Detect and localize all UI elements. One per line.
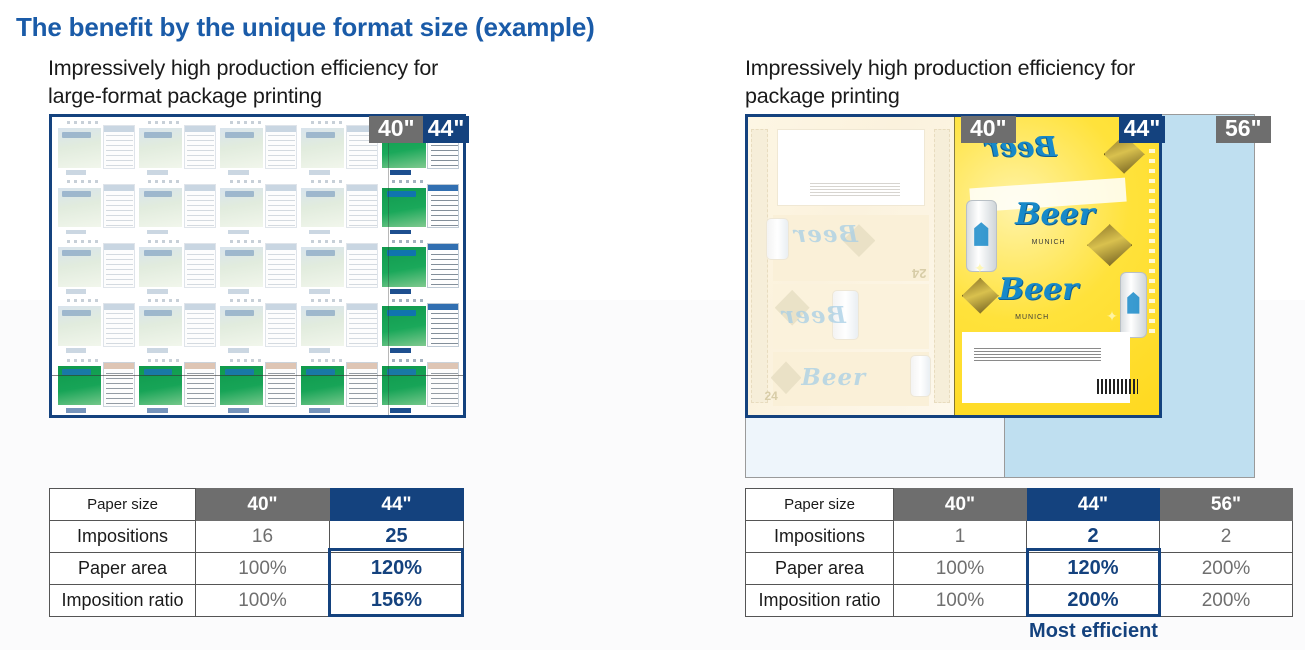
right-cell-impositions-40: 1 — [894, 521, 1027, 553]
carton-cell — [56, 120, 136, 178]
beer-wordmark-vivid: Beer — [999, 272, 1078, 307]
carton-cell — [218, 239, 298, 297]
pack-count-ghost: 24 — [912, 266, 926, 281]
carton-cell-highlight — [381, 179, 461, 237]
left-sheet-cutline-horizontal — [52, 375, 463, 376]
right-cell-impositions-44: 2 — [1027, 521, 1160, 553]
left-cell-impositions-40: 16 — [196, 521, 330, 553]
left-flag-40: 40" — [369, 116, 424, 143]
right-flag-56: 56" — [1216, 116, 1271, 143]
carton-cell — [300, 179, 380, 237]
beer-wordmark-vivid: Beer — [1015, 197, 1094, 232]
left-comparison-table: Paper size 40" 44" Impositions 16 25 Pap… — [49, 488, 464, 617]
table-row: Impositions 1 2 2 — [746, 521, 1293, 553]
carton-cell — [137, 239, 217, 297]
carton-cell-highlight — [137, 358, 217, 416]
left-subtitle-line1: Impressively high production efficiency … — [48, 55, 608, 83]
carton-cell — [218, 120, 298, 178]
left-carton-grid — [56, 120, 461, 416]
carton-cell — [137, 298, 217, 356]
right-th-56: 56" — [1160, 489, 1293, 521]
beer-carton-vivid: Beer Beer Beer MUNICH MUNICH ✦ ✦ ✦ — [954, 117, 1160, 415]
beer-wordmark-ghost: Beer — [793, 221, 858, 248]
right-cell-paper-area-44: 120% — [1027, 553, 1160, 585]
left-subtitle: Impressively high production efficiency … — [48, 55, 608, 110]
left-flag-44: 44" — [423, 116, 469, 143]
left-cell-imposition-ratio-44: 156% — [330, 585, 464, 617]
pack-count-ghost: 24 — [764, 389, 777, 403]
left-row-label-impositions: Impositions — [50, 521, 196, 553]
right-sheet-cutline — [954, 117, 955, 415]
table-row: Paper area 100% 120% — [50, 553, 464, 585]
right-row-label-impositions: Impositions — [746, 521, 894, 553]
carton-cell-highlight — [300, 358, 380, 416]
carton-cell — [56, 298, 136, 356]
beer-wordmark-ghost: Beer — [781, 302, 846, 329]
left-row-label-paper-area: Paper area — [50, 553, 196, 585]
left-th-paper-size: Paper size — [50, 489, 196, 521]
table-row: Paper size 40" 44" 56" — [746, 489, 1293, 521]
right-row-label-imposition-ratio: Imposition ratio — [746, 585, 894, 617]
table-row: Imposition ratio 100% 156% — [50, 585, 464, 617]
right-flag-40: 40" — [961, 116, 1016, 143]
right-comparison-table: Paper size 40" 44" 56" Impositions 1 2 2… — [745, 488, 1293, 617]
most-efficient-label: Most efficient — [1026, 620, 1161, 643]
right-cell-imposition-ratio-56: 200% — [1160, 585, 1293, 617]
left-row-label-imposition-ratio: Imposition ratio — [50, 585, 196, 617]
left-th-40: 40" — [196, 489, 330, 521]
carton-cell-highlight — [381, 298, 461, 356]
right-th-40: 40" — [894, 489, 1027, 521]
beer-subtitle: MUNICH — [1015, 314, 1049, 321]
beer-wordmark-ghost: Beer — [801, 364, 866, 391]
right-imposition-sheet: Beer Beer Beer 24 24 Beer Beer Beer MUNI… — [745, 114, 1162, 418]
carton-cell — [137, 179, 217, 237]
carton-cell-highlight — [381, 358, 461, 416]
right-row-label-paper-area: Paper area — [746, 553, 894, 585]
carton-cell — [56, 179, 136, 237]
carton-cell — [300, 239, 380, 297]
carton-cell — [56, 239, 136, 297]
carton-cell — [218, 298, 298, 356]
right-cell-impositions-56: 2 — [1160, 521, 1293, 553]
left-sheet-cutline-vertical — [388, 117, 389, 415]
table-row: Impositions 16 25 — [50, 521, 464, 553]
left-th-44: 44" — [330, 489, 464, 521]
carton-cell — [137, 120, 217, 178]
left-cell-imposition-ratio-40: 100% — [196, 585, 330, 617]
carton-cell-highlight — [381, 239, 461, 297]
right-cell-paper-area-40: 100% — [894, 553, 1027, 585]
beer-subtitle: MUNICH — [1032, 239, 1066, 246]
right-cell-paper-area-56: 200% — [1160, 553, 1293, 585]
slide-root: The benefit by the unique format size (e… — [0, 0, 1305, 650]
table-row: Paper size 40" 44" — [50, 489, 464, 521]
right-flag-44: 44" — [1119, 116, 1165, 143]
right-sheet-40-extension — [745, 417, 1005, 478]
left-subtitle-line2: large-format package printing — [48, 83, 608, 111]
table-row: Imposition ratio 100% 200% 200% — [746, 585, 1293, 617]
beer-carton-ghost: Beer Beer Beer 24 24 — [748, 117, 954, 415]
table-row: Paper area 100% 120% 200% — [746, 553, 1293, 585]
right-subtitle: Impressively high production efficiency … — [745, 55, 1305, 110]
carton-cell-highlight — [218, 358, 298, 416]
right-th-44: 44" — [1027, 489, 1160, 521]
right-cell-imposition-ratio-40: 100% — [894, 585, 1027, 617]
left-cell-paper-area-40: 100% — [196, 553, 330, 585]
carton-cell — [300, 120, 380, 178]
left-imposition-sheet — [49, 114, 466, 418]
page-title: The benefit by the unique format size (e… — [16, 12, 595, 43]
carton-cell — [218, 179, 298, 237]
right-subtitle-line2: package printing — [745, 83, 1305, 111]
carton-cell-highlight — [56, 358, 136, 416]
carton-cell — [300, 298, 380, 356]
right-subtitle-line1: Impressively high production efficiency … — [745, 55, 1305, 83]
left-cell-paper-area-44: 120% — [330, 553, 464, 585]
left-cell-impositions-44: 25 — [330, 521, 464, 553]
right-cell-imposition-ratio-44: 200% — [1027, 585, 1160, 617]
right-th-paper-size: Paper size — [746, 489, 894, 521]
